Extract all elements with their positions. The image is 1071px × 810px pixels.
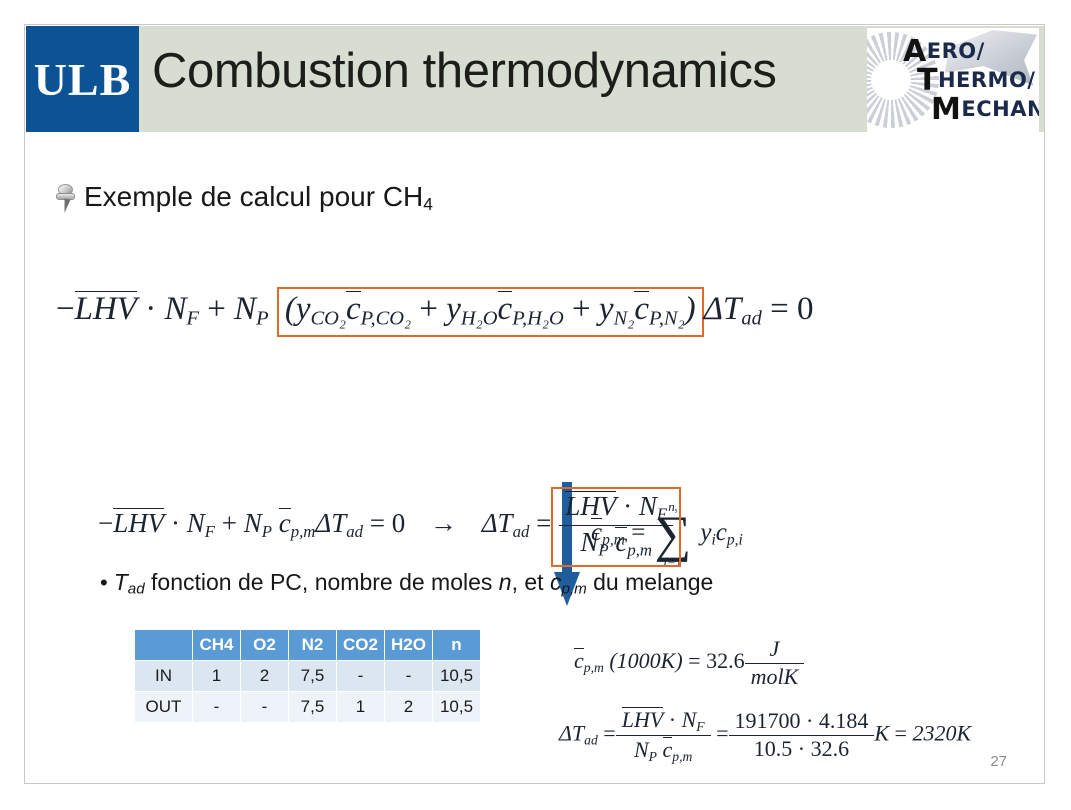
eqsum-yi: y [700, 519, 711, 546]
pin-bullet-row: Exemple de calcul pour CH4 [52, 181, 433, 215]
eq1-c2: c [498, 291, 513, 326]
pushpin-icon [52, 182, 80, 214]
eqfinal-num-nf: N [682, 707, 697, 732]
eq2-lhv: LHV [113, 508, 164, 537]
eq1-dot: · [145, 291, 156, 327]
eq1-plus: + [207, 291, 226, 327]
eqcp-unit-numerator: J [745, 637, 805, 663]
page-title: Combustion thermodynamics [152, 43, 777, 99]
eq1-highlight-box: (yCO₂cP,CO₂ + yH₂OcP,H₂O + yN₂cP,N₂) [277, 287, 704, 337]
eqfinal-den-c: c [663, 737, 673, 761]
eqsum-cpi: c [716, 519, 727, 546]
bullet2-text-end: du melange [587, 569, 714, 595]
eq2-np: N [244, 508, 262, 538]
eq2-num-lhv: LHV [565, 491, 616, 520]
bullet2-italic-n: n [499, 569, 512, 595]
eq1-nf: N [164, 291, 186, 327]
eqfinal-den-symbolic: NP cp,m [616, 735, 711, 764]
atm-logo-line-3-initial: M [931, 92, 961, 127]
eqfinal-result: 2320K [912, 721, 971, 746]
table-header: CH4 O2 N2 CO2 H2O n [135, 630, 481, 661]
eq2-dot: · [171, 508, 180, 538]
table-row-label-in: IN [135, 661, 193, 692]
eqfinal-delta-t: ΔT [559, 721, 584, 746]
table-col-ch4: CH4 [193, 630, 241, 661]
table-col-n2: N2 [289, 630, 337, 661]
eqfinal-num-lhv: LHV [622, 707, 664, 731]
eqfinal-kelvin: K [874, 721, 889, 746]
eq2-fraction: LHV · NFNP cp,m [559, 491, 673, 561]
eqfinal-num-symbolic: LHV · NF [616, 707, 711, 735]
table-cell: 7,5 [289, 692, 337, 723]
eq1-y1-sub: CO₂ [311, 308, 347, 330]
eqfinal-den-np: N [634, 737, 649, 762]
eq1-plus3: + [572, 291, 591, 327]
equation-energy-balance: −LHV · NF + NP (yCO₂cP,CO₂ + yH₂OcP,H₂O … [56, 287, 813, 337]
atm-logo-line-1: AERO/ [903, 34, 985, 64]
eq2-den-c-sub: p,m [627, 541, 652, 560]
table-cell: - [193, 692, 241, 723]
pin-bullet-label: Exemple de calcul pour CH [84, 181, 423, 212]
eq2-num-nf-sub: F [657, 505, 667, 524]
table-body: IN 1 2 7,5 - - 10,5 OUT - - 7,5 1 2 10,5 [135, 661, 481, 723]
equation-final-result: ΔTad =LHV · NFNP cp,m =191700 · 4.18410.… [559, 707, 971, 764]
eq1-y3-sub: N₂ [614, 308, 635, 330]
eq2-num-nf: N [639, 491, 657, 521]
eqfinal-den-c-sub: p,m [672, 749, 692, 764]
eqfinal-num-nf-sub: F [696, 719, 704, 734]
eq1-rhs: 0 [797, 291, 814, 327]
eqcp-value: 32.6 [706, 648, 745, 673]
eqfinal-equals3: = [895, 721, 907, 746]
pin-bullet-subscript: 4 [423, 194, 433, 214]
eq2-fraction-denominator: NP cp,m [559, 525, 673, 560]
eq1-delta-t: ΔT [704, 291, 742, 327]
table-header-row: CH4 O2 N2 CO2 H2O n [135, 630, 481, 661]
eq2-nf: N [187, 508, 205, 538]
eq1-minus: − [56, 291, 75, 327]
eqfinal-equals: = [603, 721, 615, 746]
eq2-equals2: = [536, 508, 551, 538]
eq2-den-np: N [580, 527, 598, 557]
species-moles-table: CH4 O2 N2 CO2 H2O n IN 1 2 7,5 - - 10,5 [134, 629, 481, 723]
table-row: OUT - - 7,5 1 2 10,5 [135, 692, 481, 723]
eq2-delta-t: ΔT [315, 508, 346, 538]
eq2-delta-t-sub: ad [346, 522, 363, 541]
equation-cp-value: cp,m (1000K) = 32.6JmolK [574, 637, 804, 689]
slide: ULB Combustion thermodynamics AERO/ THER… [24, 24, 1045, 784]
bullet2-symbol-c-sub: p,m [561, 581, 586, 598]
eq2-cbar-sub: p,m [291, 522, 316, 541]
eqfinal-den-numeric: 10.5 · 32.6 [729, 735, 875, 762]
bullet2-text-mid: fonction de PC, nombre de moles [145, 569, 499, 595]
eq1-c3: c [634, 291, 649, 326]
table-cell: - [385, 661, 433, 692]
eq1-c3-sub: P,N₂ [649, 308, 685, 330]
eq2-equals: = [370, 508, 385, 538]
eq2-den-np-sub: P [598, 541, 608, 560]
table-col-o2: O2 [241, 630, 289, 661]
eqfinal-num-dot: · [669, 707, 676, 732]
eqfinal-fraction-symbolic: LHV · NFNP cp,m [616, 707, 711, 764]
eq1-np-sub: P [256, 308, 268, 330]
table-col-co2: CO2 [337, 630, 385, 661]
table-col-n: n [433, 630, 481, 661]
slide-body: Exemple de calcul pour CH4 −LHV · NF + N… [26, 132, 1045, 784]
pin-bullet-text: Exemple de calcul pour CH4 [84, 181, 433, 215]
eq1-y1: y [296, 291, 311, 327]
eqcp-cbar-sub: p,m [584, 660, 604, 675]
table-cell: 7,5 [289, 661, 337, 692]
table-corner-cell [135, 630, 193, 661]
eq1-lhv: LHV [75, 291, 137, 326]
page-number: 27 [990, 753, 1007, 770]
table-cell: 10,5 [433, 661, 481, 692]
table-cell: 2 [241, 661, 289, 692]
bullet2-text-after: , et [512, 569, 550, 595]
eqfinal-num-numeric: 191700 · 4.184 [729, 709, 875, 735]
eq2-fraction-numerator: LHV · NF [559, 491, 673, 525]
eq2-zero: 0 [392, 508, 406, 538]
atm-logo-line-3: MECHANICS [931, 92, 1039, 122]
table-cell: - [241, 692, 289, 723]
bullet2-symbol-t: T [114, 569, 128, 595]
second-bullet-row: •Tad fonction de PC, nombre de moles n, … [100, 569, 713, 598]
table-col-h2o: H2O [385, 630, 433, 661]
eqcp-equals: = [688, 648, 700, 673]
equation-simplified-balance: −LHV · NF + NP cp,mΔTad = 0 → ΔTad =LHV … [98, 487, 681, 567]
eq1-c1: c [346, 291, 361, 326]
table-cell: 1 [193, 661, 241, 692]
bullet2-symbol-t-sub: ad [128, 581, 145, 598]
eq1-equals: = [770, 291, 789, 327]
eqsum-cpi-sub: p,i [727, 531, 743, 548]
eq1-np: N [234, 291, 256, 327]
eq2-implies-arrow: → [412, 508, 475, 538]
eq1-delta-t-sub: ad [741, 308, 761, 330]
atm-logo-line-2-rest: HERMO/ [938, 68, 1036, 92]
eqfinal-den-np-sub: P [649, 749, 657, 764]
eq1-close-paren: ) [685, 291, 696, 327]
eq1-c2-sub: P,H₂O [512, 308, 564, 330]
eqfinal-fraction-numeric: 191700 · 4.18410.5 · 32.6 [729, 709, 875, 761]
eq2-minus: − [98, 508, 113, 538]
eq2-delta-t2-sub: ad [513, 522, 530, 541]
eqcp-argument: (1000K) [609, 648, 682, 673]
eq1-open-paren: ( [285, 291, 296, 327]
eqfinal-delta-t-sub: ad [584, 732, 598, 747]
eq2-delta-t2: ΔT [482, 508, 513, 538]
bullet2-symbol-c: c [550, 569, 562, 595]
eqfinal-equals2: = [716, 721, 728, 746]
ulb-logo-badge: ULB [26, 26, 139, 132]
bullet-marker: • [100, 570, 114, 595]
table-cell: - [337, 661, 385, 692]
table-cell: 2 [385, 692, 433, 723]
eq2-den-c: c [615, 527, 627, 556]
eq2-nf-sub: F [205, 522, 215, 541]
eq1-c1-sub: P,CO₂ [361, 308, 411, 330]
atm-logo-line-3-rest: ECHANICS [961, 97, 1039, 121]
eq1-plus2: + [419, 291, 438, 327]
atm-logo-line-2: THERMO/ [917, 63, 1035, 93]
eq1-y2-sub: H₂O [461, 308, 498, 330]
eq1-y3: y [599, 291, 614, 327]
eq2-result-box: LHV · NFNP cp,m [551, 487, 681, 567]
table-cell: 10,5 [433, 692, 481, 723]
atm-logo-line-1-rest: ERO/ [927, 39, 985, 63]
eqcp-unit-denominator: molK [745, 663, 805, 690]
table-row: IN 1 2 7,5 - - 10,5 [135, 661, 481, 692]
atm-logo: AERO/ THERMO/ MECHANICS [867, 28, 1039, 132]
eqcp-unit-fraction: JmolK [745, 637, 805, 689]
eq1-y2: y [446, 291, 461, 327]
table-row-label-out: OUT [135, 692, 193, 723]
eqcp-cbar: c [574, 648, 584, 672]
eq2-cbar: c [279, 508, 291, 537]
slide-header: ULB Combustion thermodynamics AERO/ THER… [26, 26, 1045, 132]
eq2-plus: + [222, 508, 237, 538]
table-cell: 1 [337, 692, 385, 723]
eq1-nf-sub: F [186, 308, 198, 330]
eq2-num-dot: · [623, 491, 632, 521]
eq2-np-sub: P [262, 522, 272, 541]
